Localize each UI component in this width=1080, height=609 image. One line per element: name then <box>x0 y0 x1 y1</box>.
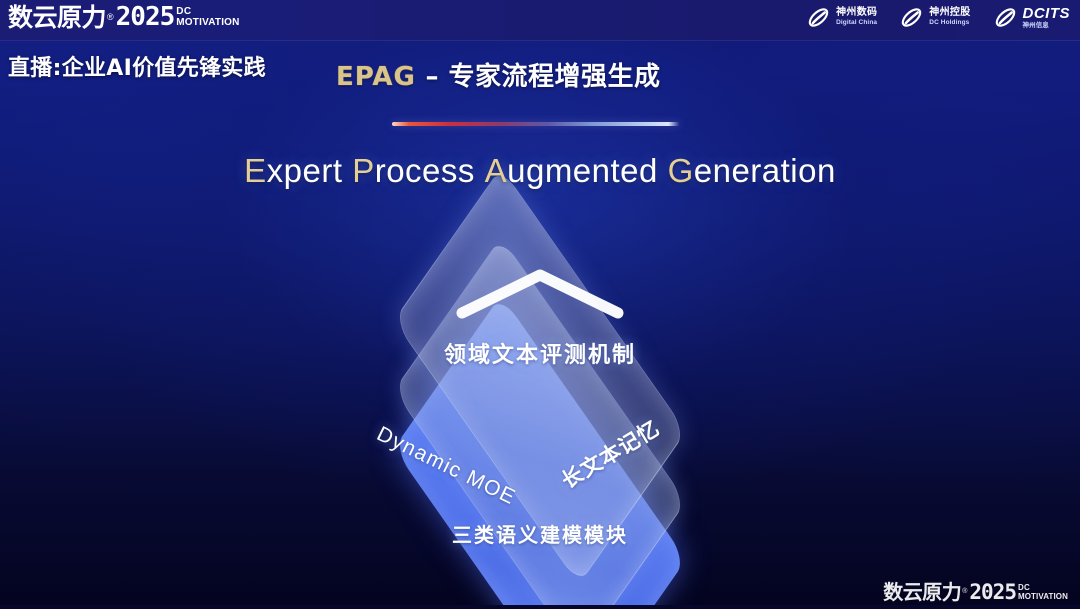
layered-stack-diagram: 领域文本评测机制 Dynamic MOE 长文本记忆 三类语义建模模块 <box>0 225 1080 595</box>
watermark-dc: DC <box>1018 584 1068 592</box>
brand-logo-tagline: DC MOTIVATION <box>176 7 239 28</box>
partner-name-en: DCITS <box>1023 6 1071 21</box>
watermark-cn: 数云原力 <box>883 581 961 603</box>
subtitle-rest-process: rocess <box>375 152 475 189</box>
partner-logo-digital-china: 神州数码 Digital China <box>806 5 877 30</box>
watermark-year: 2025 <box>969 581 1016 603</box>
partner-name-en: Digital China <box>836 20 877 27</box>
chevron-up-icon <box>450 263 630 325</box>
swirl-icon <box>993 5 1018 30</box>
partner-logo-dcits: DCITS 神州信息 <box>993 5 1071 30</box>
subtitle-rest-expert: xpert <box>267 152 343 189</box>
brand-logo: 数云原力 ® 2025 DC MOTIVATION <box>8 4 240 31</box>
english-subtitle: Expert Process Augmented Generation <box>0 152 1080 190</box>
brand-logo-motivation: MOTIVATION <box>176 18 239 28</box>
watermark-tagline: DC MOTIVATION <box>1018 584 1068 601</box>
slide-heading-chinese: 专家流程增强生成 <box>449 62 661 92</box>
partner-name-en: DC Holdings <box>929 20 970 27</box>
stack-layer-bottom-label: 三类语义建模模块 <box>0 519 1080 548</box>
partner-logo-dc-holdings: 神州控股 DC Holdings <box>899 5 970 30</box>
partner-name-cn: 神州信息 <box>1023 23 1071 30</box>
slide-canvas: 数云原力 ® 2025 DC MOTIVATION 神州数码 Digital C… <box>0 0 1080 609</box>
subtitle-cap-p: P <box>352 152 375 189</box>
bottom-watermark-logo: 数云原力 ® 2025 DC MOTIVATION <box>883 581 1068 603</box>
brand-logo-year: 2025 <box>116 4 175 31</box>
partner-name-cn: 神州数码 <box>836 8 877 18</box>
subtitle-cap-g: G <box>668 152 694 189</box>
subtitle-cap-a: A <box>485 152 508 189</box>
stack-layer-top-label: 领域文本评测机制 <box>0 337 1080 369</box>
gradient-divider <box>392 122 680 126</box>
swirl-icon <box>899 5 924 30</box>
subtitle-rest-generation: eneration <box>694 152 836 189</box>
brand-logo-cn: 数云原力 <box>8 4 106 31</box>
partner-text: 神州数码 Digital China <box>836 8 877 27</box>
watermark-registered-mark: ® <box>962 588 967 595</box>
slide-heading-separator: – <box>416 62 449 92</box>
partner-text: DCITS 神州信息 <box>1023 6 1071 30</box>
brand-logo-registered-mark: ® <box>107 13 114 22</box>
brand-logo-dc: DC <box>176 7 239 17</box>
subtitle-rest-augmented: ugmented <box>507 152 658 189</box>
swirl-icon <box>806 5 831 30</box>
live-stream-title: 直播:企业AI价值先锋实践 <box>8 50 266 82</box>
subtitle-cap-e: E <box>244 152 267 189</box>
partner-text: 神州控股 DC Holdings <box>929 8 970 27</box>
watermark-motivation: MOTIVATION <box>1018 593 1068 601</box>
slide-heading: EPAG – 专家流程增强生成 <box>336 56 661 93</box>
bottom-edge-bar <box>0 605 1080 609</box>
partner-name-cn: 神州控股 <box>929 8 970 18</box>
slide-heading-acronym: EPAG <box>336 62 416 92</box>
partner-logos: 神州数码 Digital China 神州控股 DC Holdings DCIT… <box>806 5 1070 30</box>
